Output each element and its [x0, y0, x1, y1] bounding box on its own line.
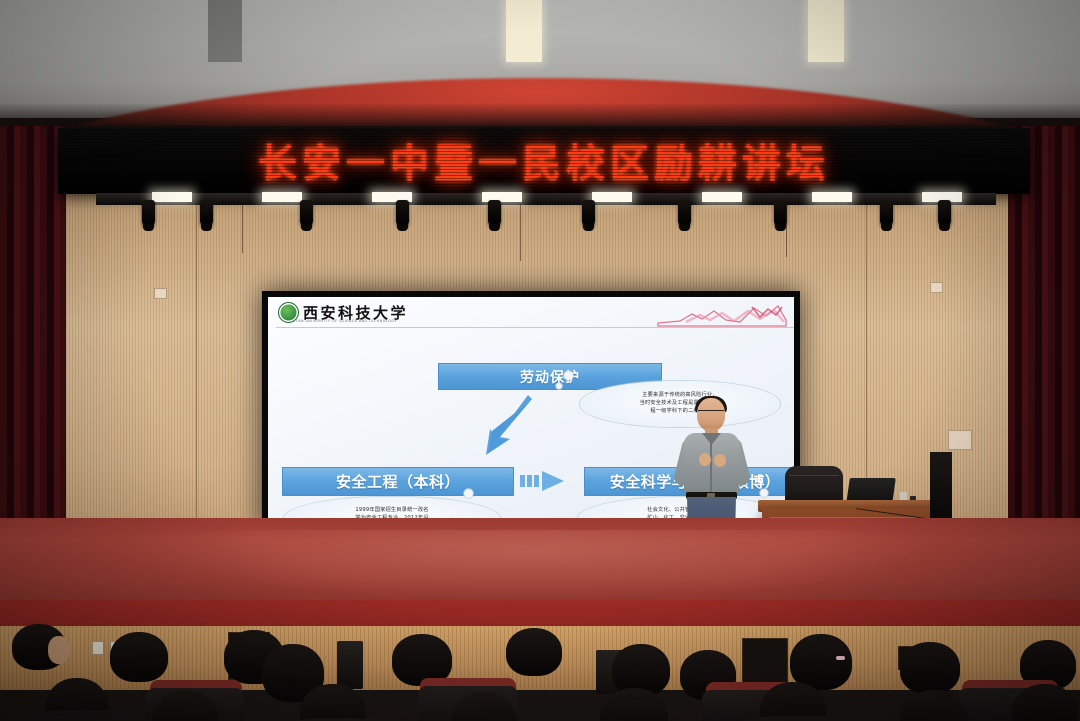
callout-line: 1999年国家招生目录统一改名 — [355, 507, 428, 515]
hanging-cable — [242, 205, 243, 253]
ceiling-panel-dark — [208, 0, 242, 62]
slide-header: 西安科技大学 XI'AN UNIVERSITY OF SCIENCE AND T… — [268, 297, 794, 329]
stage-spotlight — [938, 200, 951, 226]
presenter-hand-right — [714, 454, 726, 467]
led-banner-text: 长安一中暨一民校区励耕讲坛 — [258, 133, 830, 189]
glasses-icon — [698, 410, 724, 416]
truss-floodlight — [262, 192, 302, 202]
stage-spotlight — [300, 200, 313, 226]
wall-switch-plate — [930, 282, 943, 293]
stage-curtain-left — [0, 126, 66, 518]
truss-floodlight — [592, 192, 632, 202]
chair-seam — [789, 475, 839, 476]
mountain-ink-graphic — [656, 302, 788, 328]
down-left-arrow-icon — [474, 393, 544, 463]
lighting-truss-bar — [96, 193, 996, 205]
truss-floodlight — [152, 192, 192, 202]
callout-bubble — [464, 489, 473, 498]
audience-shoulders — [10, 710, 150, 721]
truss-floodlight — [812, 192, 852, 202]
presenter-hand-left — [699, 453, 711, 466]
lecture-hall-photo: 长安一中暨一民校区励耕讲坛 西安科技大学 XI'AN UNIVERSITY OF… — [0, 0, 1080, 721]
truss-floodlight — [702, 192, 742, 202]
stage-spotlight — [880, 200, 893, 226]
callout-bubble — [760, 489, 768, 497]
stage-spotlight — [200, 200, 213, 226]
hanging-cable — [520, 205, 521, 261]
pa-speaker-tower — [930, 452, 952, 522]
right-arrow-icon — [520, 470, 578, 492]
slide-box-bottom-left: 安全工程（本科） — [282, 467, 514, 496]
stage-floor-light-pool — [120, 530, 940, 600]
slide-header-rule — [276, 327, 794, 328]
stage-spotlight — [582, 200, 595, 226]
wall-seam — [866, 196, 867, 518]
wall-switch-plate — [154, 288, 167, 299]
audience — [0, 618, 1080, 721]
stage-spotlight — [678, 200, 691, 226]
callout-bubble — [556, 383, 562, 389]
audience-head — [900, 642, 960, 694]
audience-head — [506, 628, 562, 676]
audience-face — [48, 636, 70, 664]
presenter-shirt-placket — [710, 438, 712, 492]
hanging-cable — [786, 205, 787, 257]
callout-bubble — [564, 371, 573, 380]
stage-spotlight — [142, 200, 155, 226]
hair-clip — [836, 656, 845, 660]
stage-spotlight — [488, 200, 501, 226]
led-banner: 长安一中暨一民校区励耕讲坛 — [58, 128, 1030, 194]
wall-seam — [196, 196, 197, 518]
ceiling-light-strip — [506, 0, 542, 62]
ceiling-light-strip — [808, 0, 844, 62]
wall-access-panel — [948, 430, 972, 450]
stage-spotlight — [396, 200, 409, 226]
audience-head — [110, 632, 168, 682]
university-name-en: XI'AN UNIVERSITY OF SCIENCE AND TECHNOLO… — [293, 319, 397, 323]
